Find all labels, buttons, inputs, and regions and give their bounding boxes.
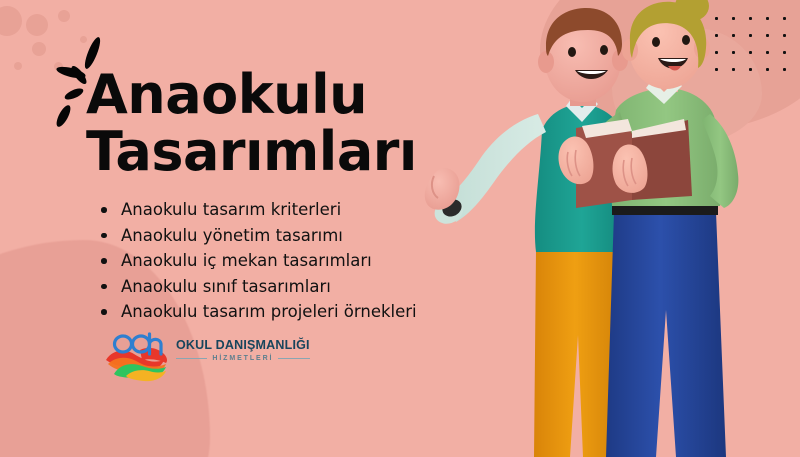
decor-circle-3 [58,10,70,22]
page-title-line1: Anaokulu [86,63,367,126]
decor-circle-2 [26,14,48,36]
logo-rule-right [278,358,309,359]
kindergarten-design-banner: Anaokulu Tasarımları Anaokulu tasarım kr… [0,0,800,457]
figure-left-ear-left [538,51,554,73]
brand-logo[interactable]: OKUL DANIŞMANLIĞI HİZMETLERİ [104,330,304,386]
logo-title: OKUL DANIŞMANLIĞI [176,338,310,352]
decor-circle-1 [0,6,22,36]
illustration-two-children [420,0,800,457]
figure-left-eye-right [600,45,608,55]
logo-subtitle: HİZMETLERİ [212,355,273,362]
logo-subtitle-row: HİZMETLERİ [176,355,310,362]
decor-circle-4 [32,42,46,56]
figure-right-pants [606,212,726,457]
logo-rule-left [176,358,207,359]
decor-circle-5 [14,62,22,70]
logo-mark-icon [104,330,172,382]
figure-right-eye-right [682,35,690,45]
figure-left-eye-left [568,47,576,57]
logo-wordmark: OKUL DANIŞMANLIĞI HİZMETLERİ [176,338,310,362]
figure-right-eye-left [652,37,660,47]
